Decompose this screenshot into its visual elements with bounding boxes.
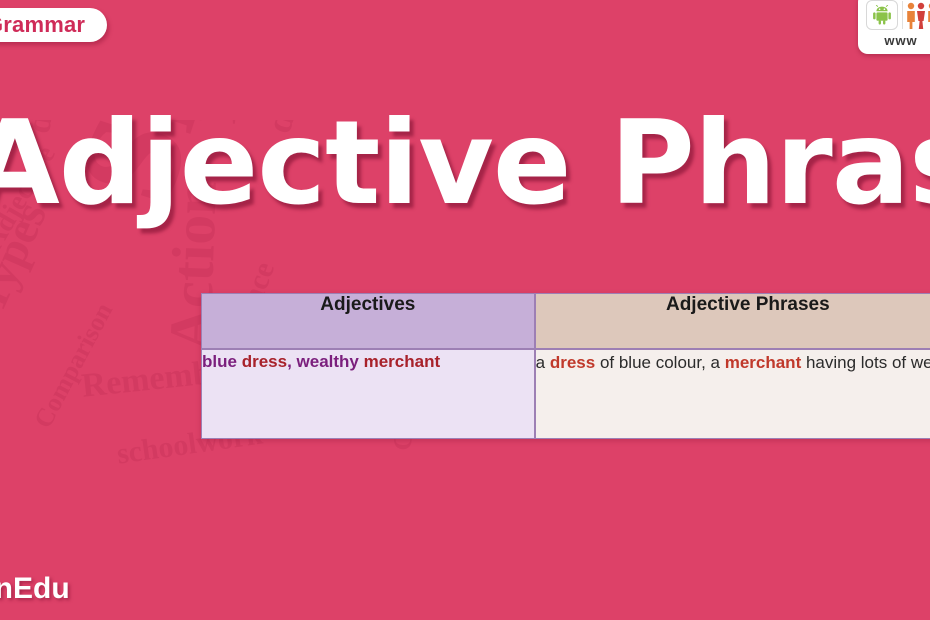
table-row: blue dress, wealthy merchant a dress of … — [201, 349, 930, 439]
channel-logo[interactable]: www — [858, 0, 930, 54]
text-run: a — [536, 353, 550, 372]
page-title: Adjective Phrases — [0, 96, 930, 231]
text-run: having lots of wealth — [801, 353, 930, 372]
logo-icons-row — [858, 0, 930, 30]
category-badge: h Grammar — [0, 8, 107, 42]
brand-watermark: enEdu — [0, 572, 70, 606]
cell-adjectives-examples: blue dress, wealthy merchant — [201, 349, 535, 439]
table-body: blue dress, wealthy merchant a dress of … — [201, 349, 930, 439]
category-badge-label: h Grammar — [0, 12, 85, 38]
text-run: wealthy — [297, 352, 359, 371]
people-figures-icon — [902, 1, 930, 29]
table-head: Adjectives Adjective Phrases — [201, 293, 930, 349]
cell-adjective-phrases-examples: a dress of blue colour, a merchant havin… — [535, 349, 930, 439]
text-run: , — [287, 352, 296, 371]
slide-canvas: Simple Friendly description Descriptive … — [0, 0, 930, 620]
android-robot-icon — [866, 0, 898, 30]
table-header-row: Adjectives Adjective Phrases — [201, 293, 930, 349]
text-run: dress — [242, 352, 287, 371]
text-run: blue — [202, 352, 237, 371]
column-header-adjectives: Adjectives — [201, 293, 535, 349]
column-header-adjective-phrases: Adjective Phrases — [535, 293, 930, 349]
text-run: of blue colour, a — [595, 353, 724, 372]
comparison-table: Adjectives Adjective Phrases blue dress,… — [201, 293, 930, 439]
watermark-word: Comparison — [30, 299, 117, 432]
logo-caption: www — [858, 33, 930, 48]
text-run: dress — [550, 353, 595, 372]
text-run: merchant — [364, 352, 441, 371]
text-run: merchant — [725, 353, 802, 372]
